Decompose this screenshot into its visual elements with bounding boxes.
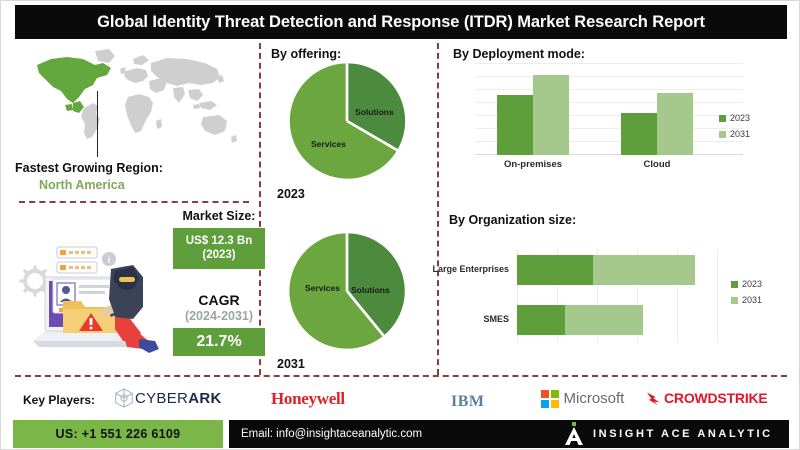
divider-horizontal-left <box>19 201 249 203</box>
legend-item-2031: 2031 <box>719 129 750 139</box>
bar-smes-2023 <box>517 305 565 335</box>
market-size-value: US$ 12.3 Bn <box>175 234 263 248</box>
logo-microsoft: Microsoft <box>541 390 624 408</box>
region-pointer-line <box>97 91 98 157</box>
market-size-value-chip: US$ 12.3 Bn (2023) <box>173 228 265 269</box>
market-size-panel: Market Size: US$ 12.3 Bn (2023) CAGR (20… <box>169 209 269 367</box>
key-players-label: Key Players: <box>23 393 95 407</box>
brand-lockup: INSIGHT ACE ANALYTIC <box>564 422 773 446</box>
microsoft-wordmark: Microsoft <box>564 390 625 407</box>
legend-label-2023: 2023 <box>742 279 762 289</box>
pie-2023-label-services: Services <box>311 139 346 149</box>
cagr-period: (2024-2031) <box>169 309 269 323</box>
illustration-svg: i <box>15 229 167 365</box>
pie-2031-label-services: Services <box>305 283 340 293</box>
crowdstrike-falcon-icon <box>646 390 664 406</box>
footer-bar: Email: info@insightaceanalytic.com INSIG… <box>229 420 789 448</box>
bar-large-enterprises-2031 <box>593 255 695 285</box>
bar-category-cloud: Cloud <box>613 159 701 170</box>
bar-large-enterprises-2023 <box>517 255 593 285</box>
north-america-highlight <box>37 57 111 113</box>
cagr-value-chip: 21.7% <box>173 328 265 356</box>
insight-ace-a-logo-icon <box>564 422 584 446</box>
legend-item-2031: 2031 <box>731 295 762 305</box>
section-title-organization: By Organization size: <box>449 213 576 227</box>
pie-2031-year: 2031 <box>277 357 305 371</box>
bar-cloud-2023 <box>621 113 657 155</box>
cyberark-cube-icon <box>113 387 135 409</box>
credential-rows <box>57 247 97 273</box>
svg-text:i: i <box>108 255 111 265</box>
pie-2023-svg <box>285 59 409 183</box>
bar-row-large-enterprises <box>517 255 695 285</box>
pie-chart-2031: Solutions Services 2031 <box>285 229 409 353</box>
gridline <box>717 249 718 343</box>
logo-honeywell: Honeywell <box>271 389 345 409</box>
bar-smes-2031 <box>565 305 643 335</box>
pie-2023-label-solutions: Solutions <box>355 107 394 117</box>
crowdstrike-wordmark: CROWDSTRIKE <box>664 390 768 406</box>
logo-cyberark: CYBERARK <box>113 387 222 409</box>
legend-swatch-2031 <box>719 131 726 138</box>
region-label: Fastest Growing Region: <box>15 161 163 175</box>
pie-2031-svg <box>285 229 409 353</box>
bar-group-cloud <box>621 93 693 155</box>
legend-label-2031: 2031 <box>742 295 762 305</box>
logo-crowdstrike: CROWDSTRIKE <box>646 390 768 406</box>
organization-chart-legend: 2023 2031 <box>731 279 762 311</box>
section-title-deployment: By Deployment mode: <box>453 47 585 61</box>
header-bar: Global Identity Threat Detection and Res… <box>15 5 787 39</box>
bar-on-premises-2031 <box>533 75 569 155</box>
pie-2031-svg-wrap <box>285 229 409 353</box>
bar-group-on-premises <box>497 75 569 155</box>
legend-item-2023: 2023 <box>719 113 750 123</box>
pie-2023-svg-wrap <box>285 59 409 183</box>
pie-chart-2023: Solutions Services 2023 <box>285 59 409 183</box>
legend-swatch-2023 <box>719 115 726 122</box>
bar-category-large-enterprises: Large Enterprises <box>401 264 509 274</box>
cagr-title: CAGR <box>169 292 269 308</box>
honeywell-wordmark: Honeywell <box>271 389 345 409</box>
legend-swatch-2031 <box>731 297 738 304</box>
divider-vertical-right <box>437 43 439 375</box>
world-map-icon <box>27 45 243 157</box>
pie-2031-label-solutions: Solutions <box>351 285 390 295</box>
bar-category-on-premises: On-premises <box>489 159 577 170</box>
market-size-year: (2023) <box>175 248 263 262</box>
bar-cloud-2031 <box>657 93 693 155</box>
logo-ibm: IBM <box>451 393 485 411</box>
footer-email[interactable]: Email: info@insightaceanalytic.com <box>241 428 422 440</box>
bar-row-smes <box>517 305 643 335</box>
cyberark-wordmark: CYBERARK <box>135 390 222 407</box>
footer-phone-chip[interactable]: US: +1 551 226 6109 <box>13 420 223 448</box>
fastest-growing-region-panel: Fastest Growing Region: North America <box>9 45 249 193</box>
legend-swatch-2023 <box>731 281 738 288</box>
ibm-wordmark: IBM <box>451 393 485 411</box>
deployment-chart-legend: 2023 2031 <box>719 113 750 145</box>
microsoft-squares-icon <box>541 390 559 408</box>
bar-on-premises-2023 <box>497 95 533 155</box>
deployment-bar-chart: On-premises Cloud 2023 2031 <box>475 63 743 155</box>
legend-item-2023: 2023 <box>731 279 762 289</box>
market-size-title: Market Size: <box>169 209 269 223</box>
world-map-svg <box>27 45 243 157</box>
region-caption: Fastest Growing Region: North America <box>15 159 243 192</box>
legend-label-2031: 2031 <box>730 129 750 139</box>
region-value: North America <box>39 178 243 192</box>
organization-size-bar-chart: Large Enterprises SMES 2023 2031 <box>517 249 717 343</box>
infographic-page: Global Identity Threat Detection and Res… <box>0 0 800 450</box>
legend-label-2023: 2023 <box>730 113 750 123</box>
bar-category-smes: SMES <box>401 314 509 324</box>
page-title: Global Identity Threat Detection and Res… <box>97 13 705 32</box>
divider-horizontal-bottom <box>15 375 787 377</box>
brand-name: INSIGHT ACE ANALYTIC <box>593 428 773 440</box>
footer-phone: US: +1 551 226 6109 <box>56 427 181 441</box>
hacker-laptop-data-breach-illustration: i <box>15 229 167 365</box>
gridline <box>475 63 743 64</box>
pie-2023-year: 2023 <box>277 187 305 201</box>
